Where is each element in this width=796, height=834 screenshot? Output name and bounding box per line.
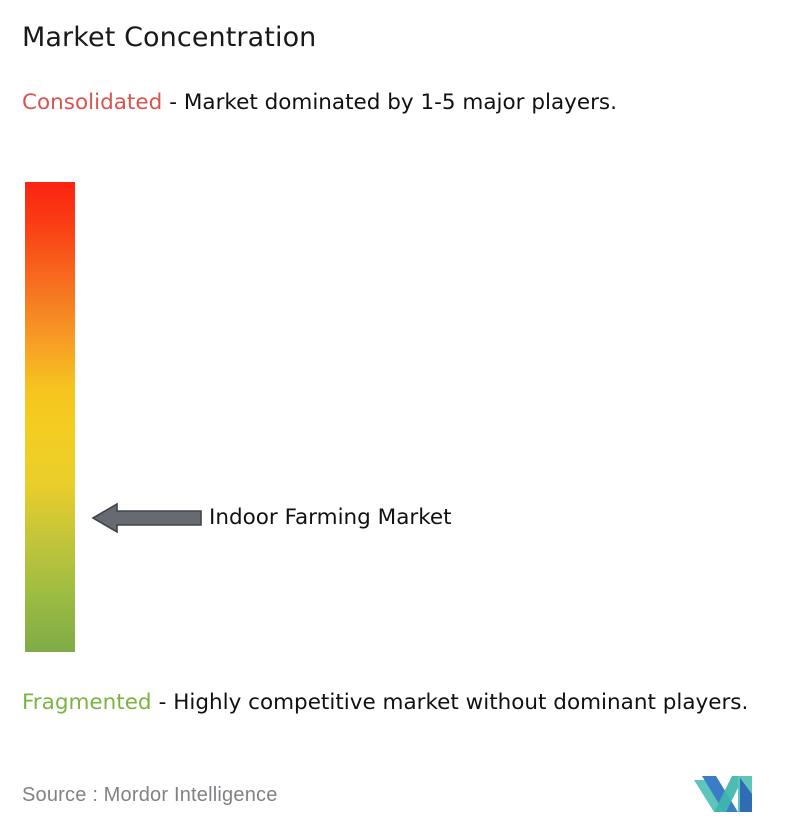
consolidated-description: Consolidated- Market dominated by 1-5 ma… [22,87,762,118]
page-title: Market Concentration [22,21,316,55]
consolidated-term: Consolidated [22,90,162,115]
consolidated-text: Market dominated by 1-5 major players. [184,90,617,115]
fragmented-text: Highly competitive market without domina… [173,690,748,715]
consolidated-separator: - [169,90,177,115]
fragmented-description: Fragmented- Highly competitive market wi… [22,687,787,718]
fragmented-separator: - [159,690,167,715]
fragmented-term: Fragmented [22,690,152,715]
concentration-gradient-bar [25,182,75,652]
source-attribution: Source : Mordor Intelligence [22,781,278,809]
market-concentration-infographic: Market Concentration Consolidated- Marke… [0,0,796,834]
source-value: Mordor Intelligence [104,784,278,806]
source-label: Source : [22,784,98,806]
market-pointer-label: Indoor Farming Market [209,503,452,533]
mordor-intelligence-logo-icon [692,772,764,814]
market-pointer-arrow-icon [91,500,203,536]
